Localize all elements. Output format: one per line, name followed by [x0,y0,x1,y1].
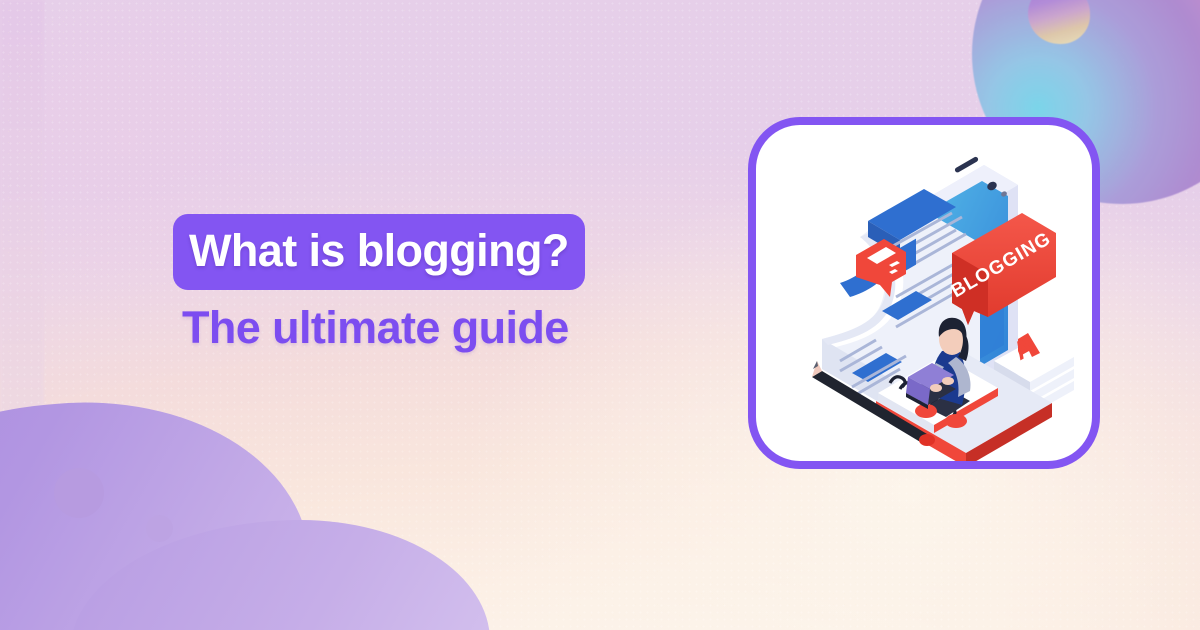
page-title: What is blogging? [173,214,585,290]
blog-banner-graphic: What is blogging? The ultimate guide [0,0,1200,630]
headline-block: What is blogging? The ultimate guide [173,214,733,350]
illustration-card: BLOGGING A [748,117,1100,469]
page-subtitle: The ultimate guide [182,305,733,350]
decorative-circle-large [54,468,104,518]
blogging-illustration-icon: BLOGGING A [756,125,1092,461]
decorative-circle-small [146,515,173,542]
